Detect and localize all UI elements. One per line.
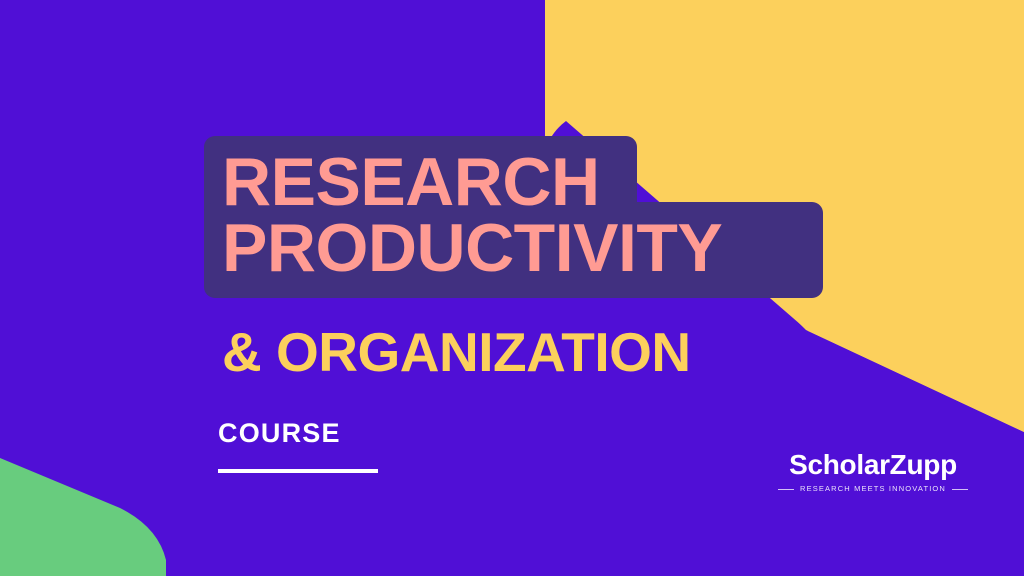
brand-tagline: RESEARCH MEETS INNOVATION: [800, 485, 946, 493]
title-line-research: RESEARCH: [222, 148, 600, 216]
poster-canvas: RESEARCH PRODUCTIVITY & ORGANIZATION COU…: [0, 0, 1024, 576]
course-block: COURSE: [218, 420, 378, 473]
brand-logo: ScholarZupp RESEARCH MEETS INNOVATION: [788, 450, 958, 493]
course-label: COURSE: [218, 420, 378, 447]
brand-tagline-row: RESEARCH MEETS INNOVATION: [788, 485, 958, 493]
dash-left-icon: [778, 489, 794, 490]
dash-right-icon: [952, 489, 968, 490]
title-line-productivity: PRODUCTIVITY: [222, 214, 722, 282]
course-underline-rule: [218, 469, 378, 473]
brand-wordmark: ScholarZupp: [788, 450, 958, 479]
title-line-organization: & ORGANIZATION: [222, 325, 691, 380]
